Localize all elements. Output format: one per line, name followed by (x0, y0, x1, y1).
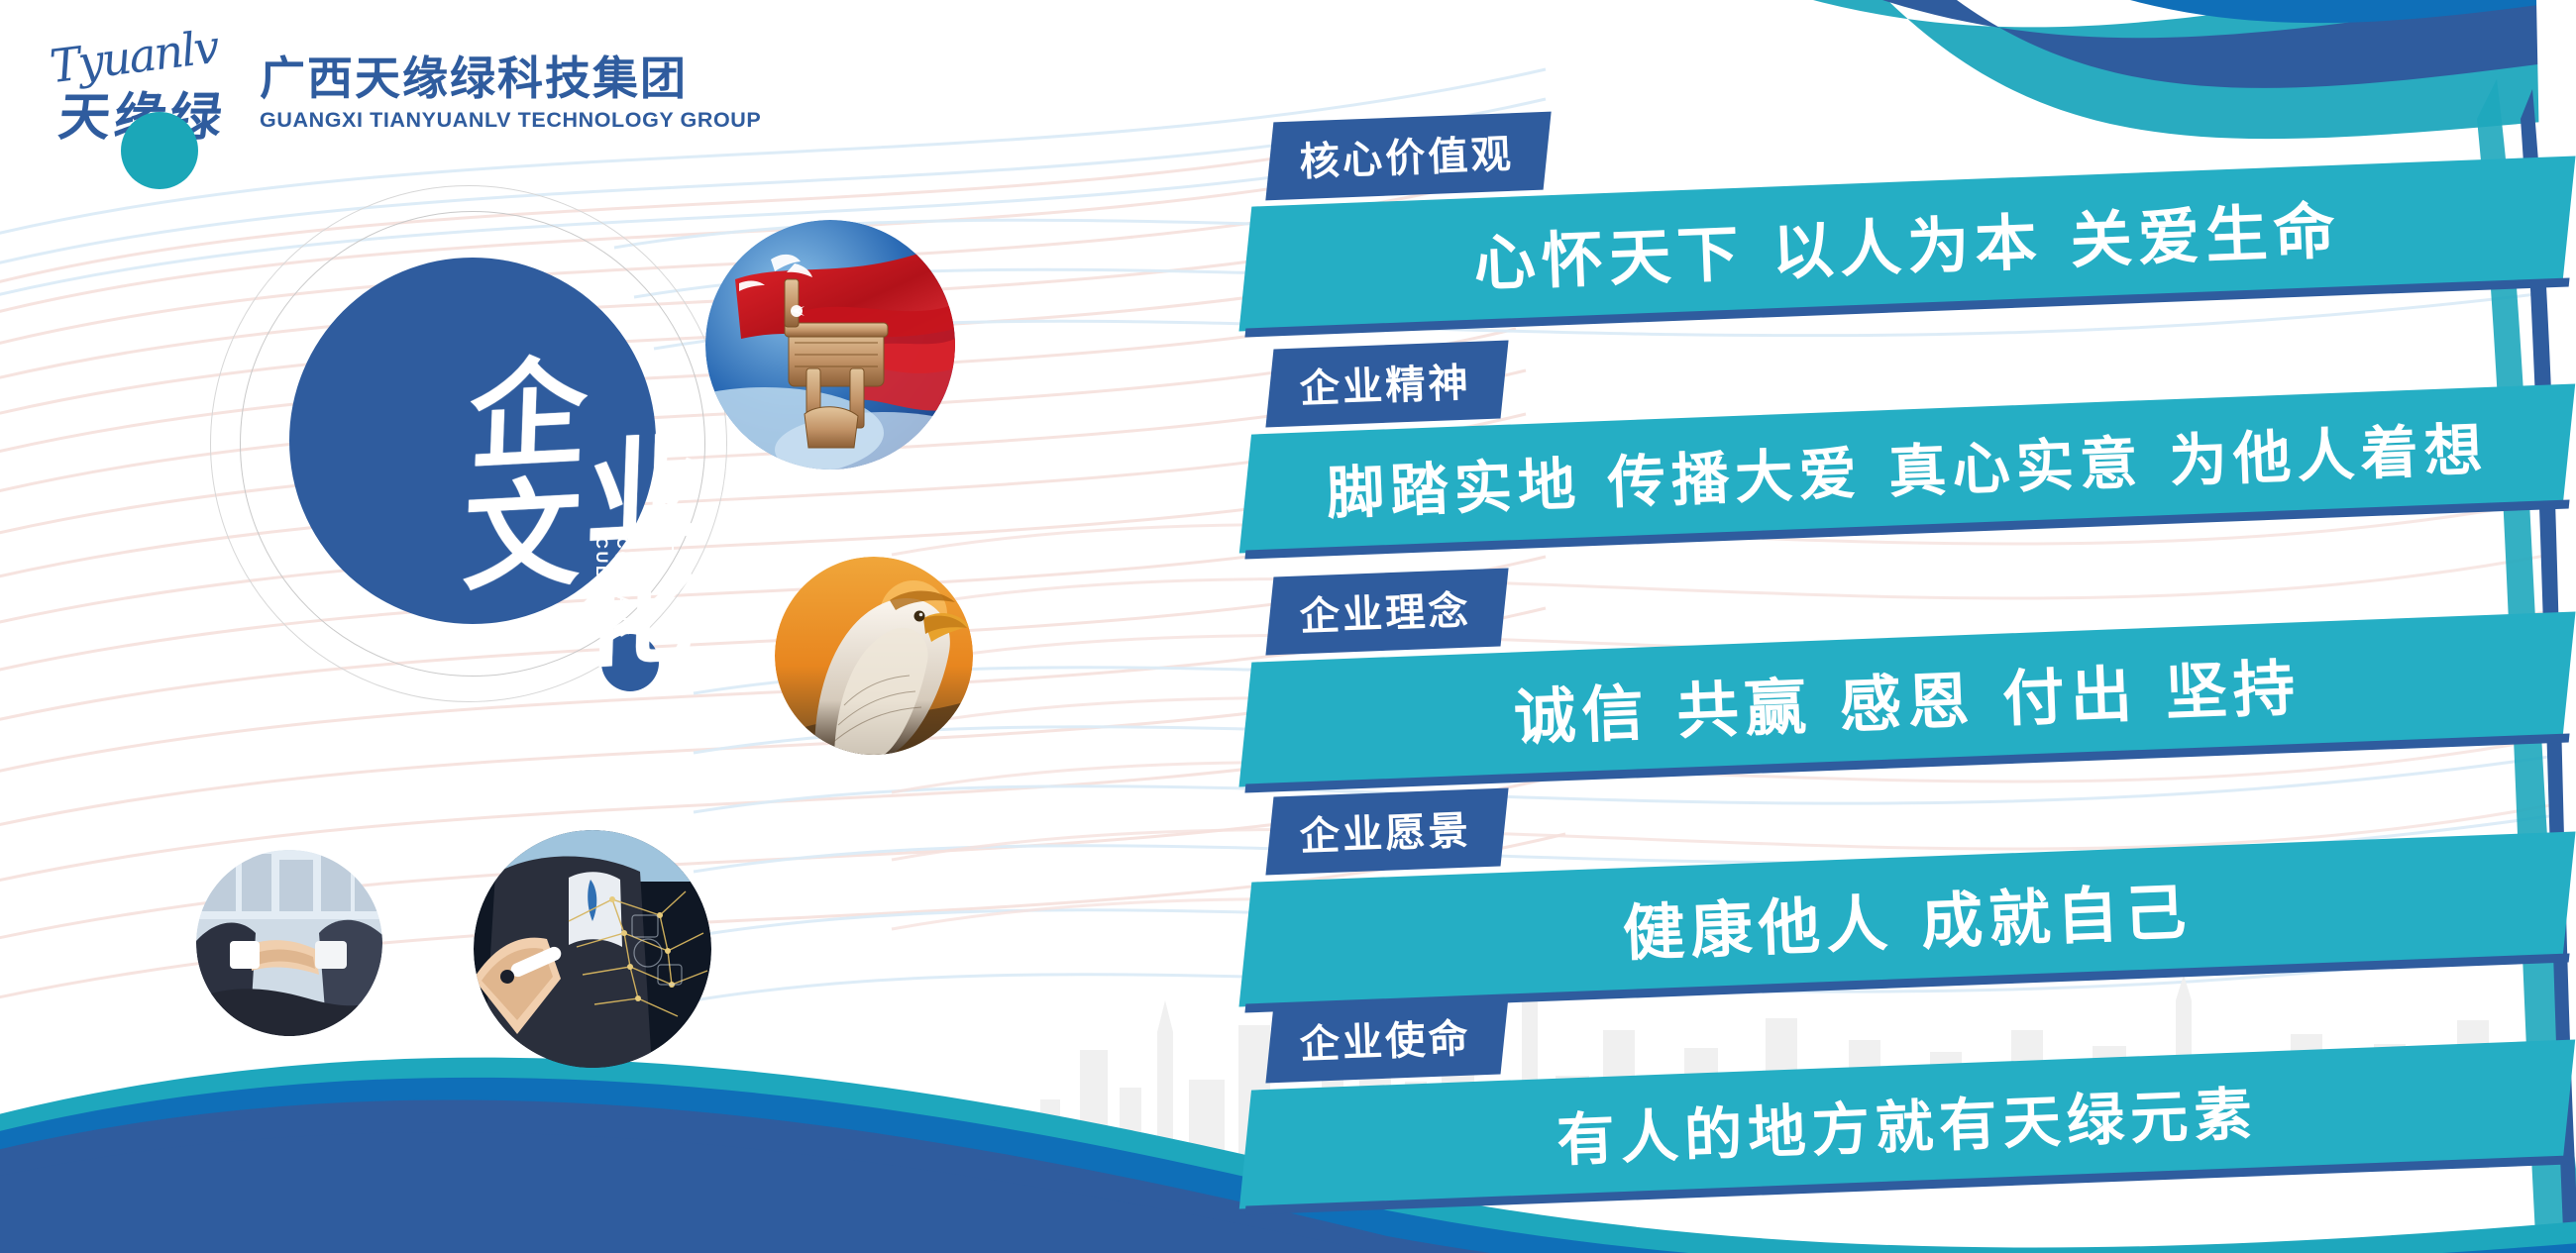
panel-corporate-vision: 企业愿景 健康他人 成就自己 (1248, 792, 2566, 988)
panel-tag-label: 企业理念 (1299, 578, 1472, 642)
panel-core-values: 核心价值观 心怀天下 以人为本 关爱生命 (1248, 117, 2566, 312)
panel-tag: 企业理念 (1265, 568, 1508, 655)
panel-tag: 核心价值观 (1265, 112, 1551, 201)
panel-tag-label: 企业愿景 (1299, 798, 1472, 862)
panel-tag: 企业愿景 (1265, 787, 1508, 875)
panel-tag: 企业精神 (1265, 340, 1508, 427)
panel-corporate-spirit: 企业精神 脚踏实地 传播大爱 真心实意 为他人着想 (1248, 345, 2566, 534)
panel-tag-label: 企业精神 (1299, 351, 1472, 414)
panel-corporate-philosophy: 企业理念 诚信 共赢 感恩 付出 坚持 (1248, 573, 2566, 768)
panel-tag: 企业使命 (1265, 995, 1508, 1083)
culture-panels: 核心价值观 心怀天下 以人为本 关爱生命 企业精神 脚踏实地 传播大爱 真心实意… (0, 0, 2576, 1253)
culture-wall-poster: Tyuanlv 天缘绿 广西天缘绿科技集团 GUANGXI TIANYUANLV… (0, 0, 2576, 1253)
panel-tag-label: 企业使命 (1299, 1006, 1472, 1070)
panel-corporate-mission: 企业使命 有人的地方就有天绿元素 (1248, 1000, 2566, 1190)
panel-tag-label: 核心价值观 (1299, 122, 1515, 187)
